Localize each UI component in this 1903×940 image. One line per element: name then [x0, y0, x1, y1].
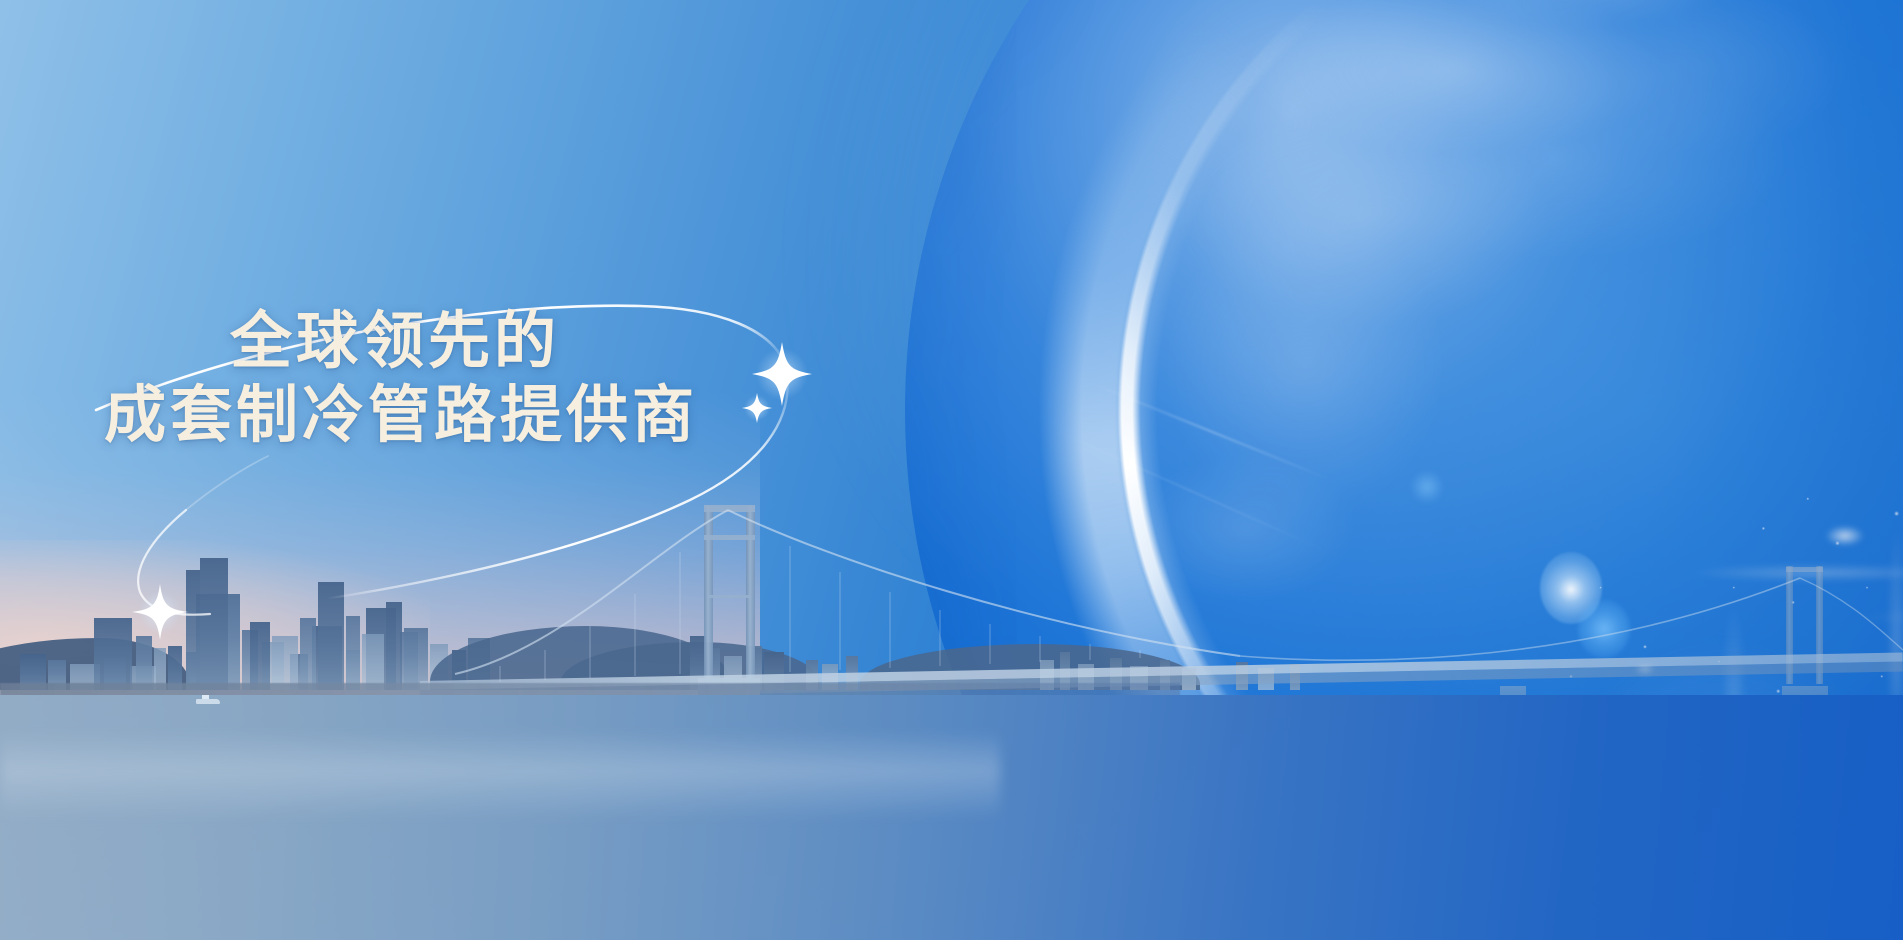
globe-limb-rim	[905, 0, 1903, 940]
lens-flare-streak-2	[1053, 429, 1327, 552]
lens-flare-cyan	[1578, 600, 1630, 658]
headline-line-2: 成套制冷管路提供商	[104, 379, 698, 453]
orbit-ring	[0, 0, 1903, 940]
globe-sphere	[905, 0, 1903, 940]
earth-globe	[905, 0, 1903, 940]
city-skyline	[0, 500, 1903, 690]
globe-terminator-shade	[905, 0, 1903, 940]
headline-line-1: 全球领先的	[230, 305, 698, 379]
globe-atmosphere-bloom	[780, 0, 1880, 680]
hero-banner: 全球领先的 成套制冷管路提供商	[0, 0, 1903, 940]
lens-flare-small	[1410, 470, 1444, 504]
water-sheen	[0, 730, 1000, 820]
sparkle-icon-bottom	[132, 584, 188, 640]
harbor-scene	[0, 520, 1903, 940]
lens-flare-streak-1	[1089, 381, 1331, 480]
boat-icon	[196, 699, 220, 704]
lens-flare-halo	[1560, 640, 1890, 940]
globe-metro-glows	[905, 0, 1903, 940]
globe-clouds	[905, 0, 1903, 940]
globe-limb-glow	[879, 0, 1903, 940]
sparkle-icon-large	[752, 342, 812, 406]
harbor-water	[0, 695, 1903, 940]
sparkle-icon-small	[742, 393, 772, 423]
globe-city-lights	[905, 0, 1903, 940]
suspension-bridge	[0, 460, 1903, 690]
lens-flare-bright	[1540, 552, 1602, 624]
globe-light-filaments	[905, 0, 1903, 940]
horizon-haze-inner	[0, 540, 430, 690]
shoreline	[0, 683, 1180, 697]
hero-headline: 全球领先的 成套制冷管路提供商	[104, 305, 698, 453]
